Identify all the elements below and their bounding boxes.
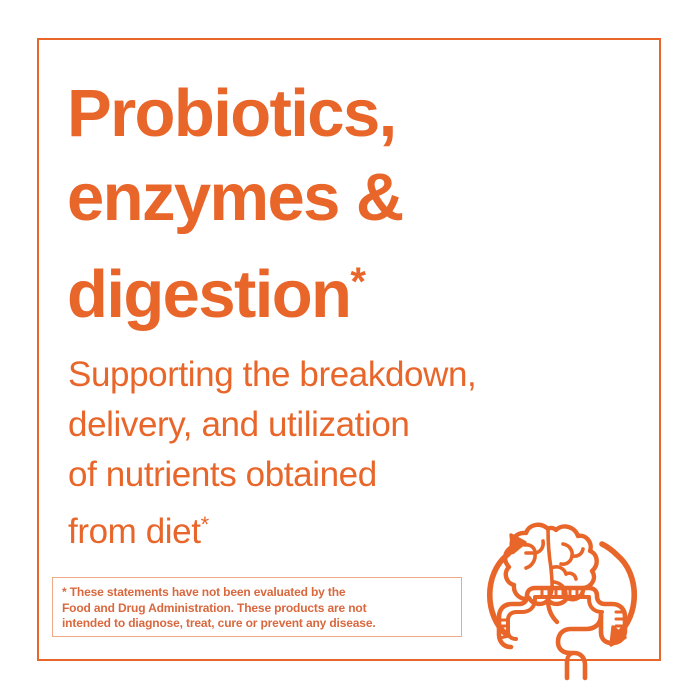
headline-line-2: enzymes & [67, 156, 537, 240]
disclaimer-line-1: * These statements have not been evaluat… [62, 585, 452, 601]
subheading-asterisk: * [201, 512, 209, 537]
subheading-line-4: from diet* [68, 500, 548, 557]
headline-asterisk: * [350, 260, 366, 304]
headline-line-3: digestion* [67, 240, 537, 337]
haustra-ticks [542, 588, 583, 597]
subheading: Supporting the breakdown, delivery, and … [68, 350, 548, 557]
fda-disclaimer-box: * These statements have not been evaluat… [52, 577, 462, 637]
gut-brain-axis-icon [478, 512, 646, 678]
small-intestine-icon [558, 615, 601, 678]
page-title: Probiotics, enzymes & digestion* [67, 72, 537, 337]
subheading-line-4-text: from diet [68, 512, 201, 551]
subheading-line-2: delivery, and utilization [68, 400, 548, 450]
arrow-right-down-icon [602, 544, 634, 645]
subheading-line-1: Supporting the breakdown, [68, 350, 548, 400]
promo-card: Probiotics, enzymes & digestion* Support… [0, 0, 700, 700]
disclaimer-line-2: Food and Drug Administration. These prod… [62, 601, 452, 617]
headline-line-1: Probiotics, [67, 72, 537, 156]
headline-line-3-text: digestion [67, 257, 350, 332]
disclaimer-line-3: intended to diagnose, treat, cure or pre… [62, 616, 452, 632]
subheading-line-3: of nutrients obtained [68, 450, 548, 500]
